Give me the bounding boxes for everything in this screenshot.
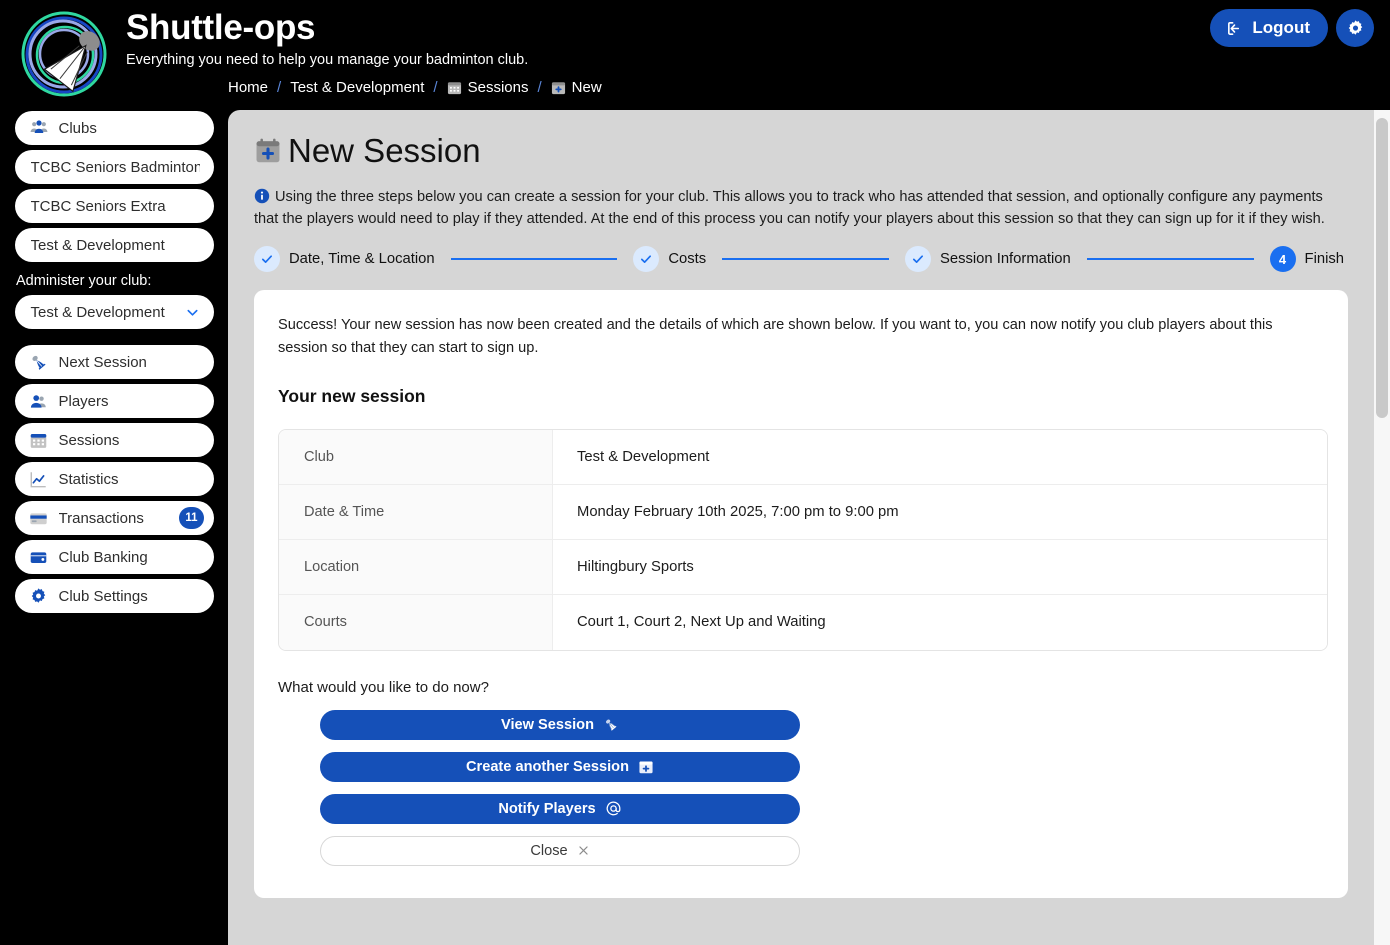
calendar-icon xyxy=(29,430,49,450)
club-selector-value: Test & Development xyxy=(31,304,165,321)
breadcrumb-label: New xyxy=(572,79,602,96)
calendar-plus-icon xyxy=(551,80,566,95)
page-title-text: New Session xyxy=(288,132,481,170)
breadcrumb-separator: / xyxy=(268,79,290,96)
calendar-plus-icon xyxy=(254,137,282,165)
notify-players-button[interactable]: Notify Players xyxy=(320,794,800,824)
table-row: Club Test & Development xyxy=(279,430,1327,485)
gear-icon xyxy=(1346,19,1365,38)
table-cell-value: Hiltingbury Sports xyxy=(553,540,1327,594)
at-sign-icon xyxy=(605,800,622,817)
sidebar-item-statistics[interactable]: Statistics xyxy=(15,462,214,496)
sidebar-item-test-and-development[interactable]: Test & Development xyxy=(15,228,214,262)
step-finish[interactable]: 4 Finish xyxy=(1270,246,1344,272)
sidebar-item-sessions[interactable]: Sessions xyxy=(15,423,214,457)
sidebar-item-label: Club Settings xyxy=(59,588,148,605)
sidebar-item-club-banking[interactable]: Club Banking xyxy=(15,540,214,574)
logout-button[interactable]: Logout xyxy=(1210,9,1328,47)
sidebar-item-label: Statistics xyxy=(59,471,119,488)
page-title: New Session xyxy=(254,132,1348,170)
sidebar-item-label: Club Banking xyxy=(59,549,148,566)
logout-arrow-icon xyxy=(1226,20,1243,37)
app-title: Shuttle-ops xyxy=(126,8,315,48)
step-connector xyxy=(1087,258,1254,260)
step-progress-indicator: Date, Time & Location Costs Session Info… xyxy=(254,246,1348,272)
sidebar-item-label: TCBC Seniors Extra xyxy=(31,198,166,215)
main-content-panel: New Session Using the three steps below … xyxy=(228,110,1374,945)
breadcrumb-item-new[interactable]: New xyxy=(551,79,602,96)
sidebar-item-label: TCBC Seniors Badminton Club xyxy=(31,159,200,176)
actions-question: What would you like to do now? xyxy=(278,679,1324,696)
players-icon xyxy=(29,391,49,411)
step-label: Costs xyxy=(668,251,706,267)
step-label: Session Information xyxy=(940,251,1071,267)
sidebar-item-label: Sessions xyxy=(59,432,120,449)
breadcrumb-item-club[interactable]: Test & Development xyxy=(290,79,424,96)
breadcrumb: Home / Test & Development / Sessions xyxy=(228,79,602,96)
page-scrollbar-thumb[interactable] xyxy=(1376,118,1388,418)
sidebar-item-next-session[interactable]: Next Session xyxy=(15,345,214,379)
success-message: Success! Your new session has now been c… xyxy=(276,314,1326,359)
people-group-icon xyxy=(29,118,49,138)
sidebar-item-label: Players xyxy=(59,393,109,410)
breadcrumb-separator: / xyxy=(528,79,550,96)
table-row: Location Hiltingbury Sports xyxy=(279,540,1327,595)
table-cell-value: Monday February 10th 2025, 7:00 pm to 9:… xyxy=(553,485,1327,539)
intro-text: Using the three steps below you can crea… xyxy=(254,189,1325,227)
gear-icon xyxy=(29,586,49,606)
sidebar-item-label: Transactions xyxy=(59,510,144,527)
section-heading: Your new session xyxy=(278,386,1324,407)
create-another-session-button[interactable]: Create another Session xyxy=(320,752,800,782)
table-cell-key: Date & Time xyxy=(279,485,553,539)
sidebar-item-transactions[interactable]: Transactions 11 xyxy=(15,501,214,535)
settings-button[interactable] xyxy=(1336,9,1374,47)
wallet-icon xyxy=(29,547,49,567)
breadcrumb-label: Test & Development xyxy=(290,79,424,96)
table-cell-value: Test & Development xyxy=(553,430,1327,484)
sidebar-item-club-settings[interactable]: Club Settings xyxy=(15,579,214,613)
table-row: Courts Court 1, Court 2, Next Up and Wai… xyxy=(279,595,1327,650)
intro-paragraph: Using the three steps below you can crea… xyxy=(254,186,1348,230)
sidebar-item-label: Next Session xyxy=(59,354,147,371)
check-icon xyxy=(633,246,659,272)
chevron-down-icon xyxy=(185,305,200,320)
check-icon xyxy=(254,246,280,272)
action-label: View Session xyxy=(501,717,594,733)
administer-your-club-label: Administer your club: xyxy=(16,273,228,289)
table-cell-value: Court 1, Court 2, Next Up and Waiting xyxy=(553,595,1327,650)
sidebar-item-tcbc-seniors-badminton-club[interactable]: TCBC Seniors Badminton Club xyxy=(15,150,214,184)
step-costs[interactable]: Costs xyxy=(633,246,706,272)
table-cell-key: Club xyxy=(279,430,553,484)
table-cell-key: Courts xyxy=(279,595,553,650)
shuttlecock-icon xyxy=(29,352,49,372)
calendar-icon xyxy=(447,80,462,95)
chart-line-icon xyxy=(29,469,49,489)
credit-card-icon xyxy=(29,508,49,528)
breadcrumb-label: Home xyxy=(228,79,268,96)
breadcrumb-label: Sessions xyxy=(468,79,529,96)
sidebar: Clubs TCBC Seniors Badminton Club TCBC S… xyxy=(0,105,228,945)
result-card: Success! Your new session has now been c… xyxy=(254,290,1348,898)
shuttlecock-logo xyxy=(18,8,110,100)
sidebar-item-players[interactable]: Players xyxy=(15,384,214,418)
sidebar-item-label: Clubs xyxy=(59,120,97,137)
breadcrumb-item-sessions[interactable]: Sessions xyxy=(447,79,529,96)
logout-label: Logout xyxy=(1252,18,1310,38)
step-connector xyxy=(722,258,889,260)
table-row: Date & Time Monday February 10th 2025, 7… xyxy=(279,485,1327,540)
calendar-plus-icon xyxy=(638,759,654,775)
step-label: Finish xyxy=(1305,251,1344,267)
top-header-bar: Shuttle-ops Everything you need to help … xyxy=(0,0,1390,105)
step-label: Date, Time & Location xyxy=(289,251,435,267)
view-session-button[interactable]: View Session xyxy=(320,710,800,740)
transactions-count-badge: 11 xyxy=(179,507,203,529)
action-label: Create another Session xyxy=(466,759,629,775)
action-button-group: View Session Crea xyxy=(320,710,800,866)
app-subtitle: Everything you need to help you manage y… xyxy=(126,52,528,68)
step-connector xyxy=(451,258,618,260)
info-circle-icon xyxy=(254,188,270,204)
close-x-icon xyxy=(577,844,590,857)
step-session-information[interactable]: Session Information xyxy=(905,246,1071,272)
step-date-time-location[interactable]: Date, Time & Location xyxy=(254,246,435,272)
session-details-table: Club Test & Development Date & Time Mond… xyxy=(278,429,1328,651)
sidebar-item-label: Test & Development xyxy=(31,237,165,254)
action-label: Notify Players xyxy=(498,801,595,817)
action-label: Close xyxy=(530,843,567,859)
breadcrumb-separator: / xyxy=(424,79,446,96)
shuttlecock-icon xyxy=(603,717,619,733)
sidebar-item-clubs[interactable]: Clubs xyxy=(15,111,214,145)
breadcrumb-item-home[interactable]: Home xyxy=(228,79,268,96)
club-selector[interactable]: Test & Development xyxy=(15,295,214,329)
close-button[interactable]: Close xyxy=(320,836,800,866)
table-cell-key: Location xyxy=(279,540,553,594)
step-number: 4 xyxy=(1270,246,1296,272)
check-icon xyxy=(905,246,931,272)
sidebar-item-tcbc-seniors-extra[interactable]: TCBC Seniors Extra xyxy=(15,189,214,223)
